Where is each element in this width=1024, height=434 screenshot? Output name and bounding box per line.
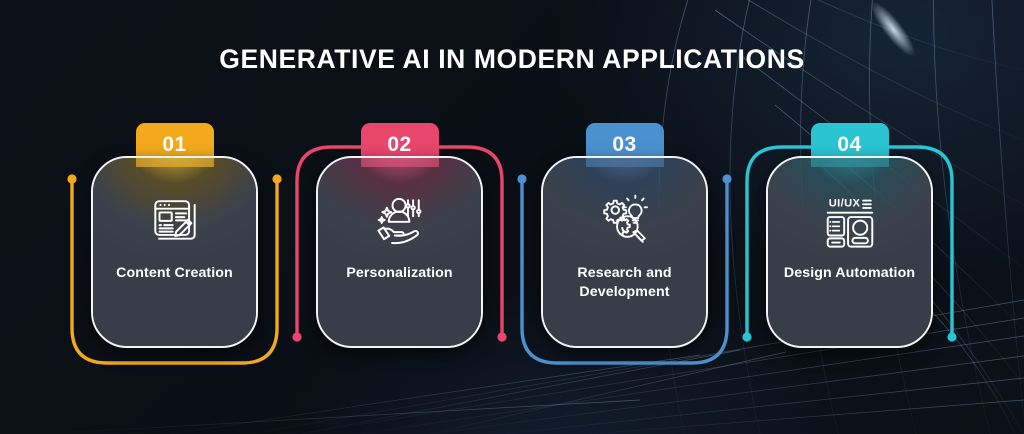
card-body-01[interactable]: Content Creation: [91, 156, 258, 348]
page-title: GENERATIVE AI IN MODERN APPLICATIONS: [0, 44, 1024, 75]
card-item-03[interactable]: 03 Re: [512, 123, 737, 373]
card-label-02: Personalization: [325, 264, 475, 283]
uiux-wireframe-icon: UI/UX: [819, 188, 881, 250]
card-label-03: Research and Development: [550, 264, 700, 301]
uiux-icon-caption: UI/UX: [828, 197, 860, 209]
document-pencil-icon: [144, 188, 206, 250]
card-item-02[interactable]: 02: [287, 123, 512, 373]
hand-person-sliders-icon: [369, 188, 431, 250]
card-body-02[interactable]: Personalization: [316, 156, 483, 348]
card-item-01[interactable]: 01: [62, 123, 287, 373]
card-body-03[interactable]: Research and Development: [541, 156, 708, 348]
card-label-01: Content Creation: [100, 264, 250, 283]
card-item-04[interactable]: 04 UI/UX: [737, 123, 962, 373]
card-number-04: 04: [837, 134, 861, 155]
card-number-01: 01: [162, 134, 186, 155]
card-label-04: Design Automation: [775, 264, 925, 283]
card-body-04[interactable]: UI/UX Design Aut: [766, 156, 933, 348]
card-number-03: 03: [612, 134, 636, 155]
gears-magnifier-bulb-icon: [594, 188, 656, 250]
card-number-02: 02: [387, 134, 411, 155]
